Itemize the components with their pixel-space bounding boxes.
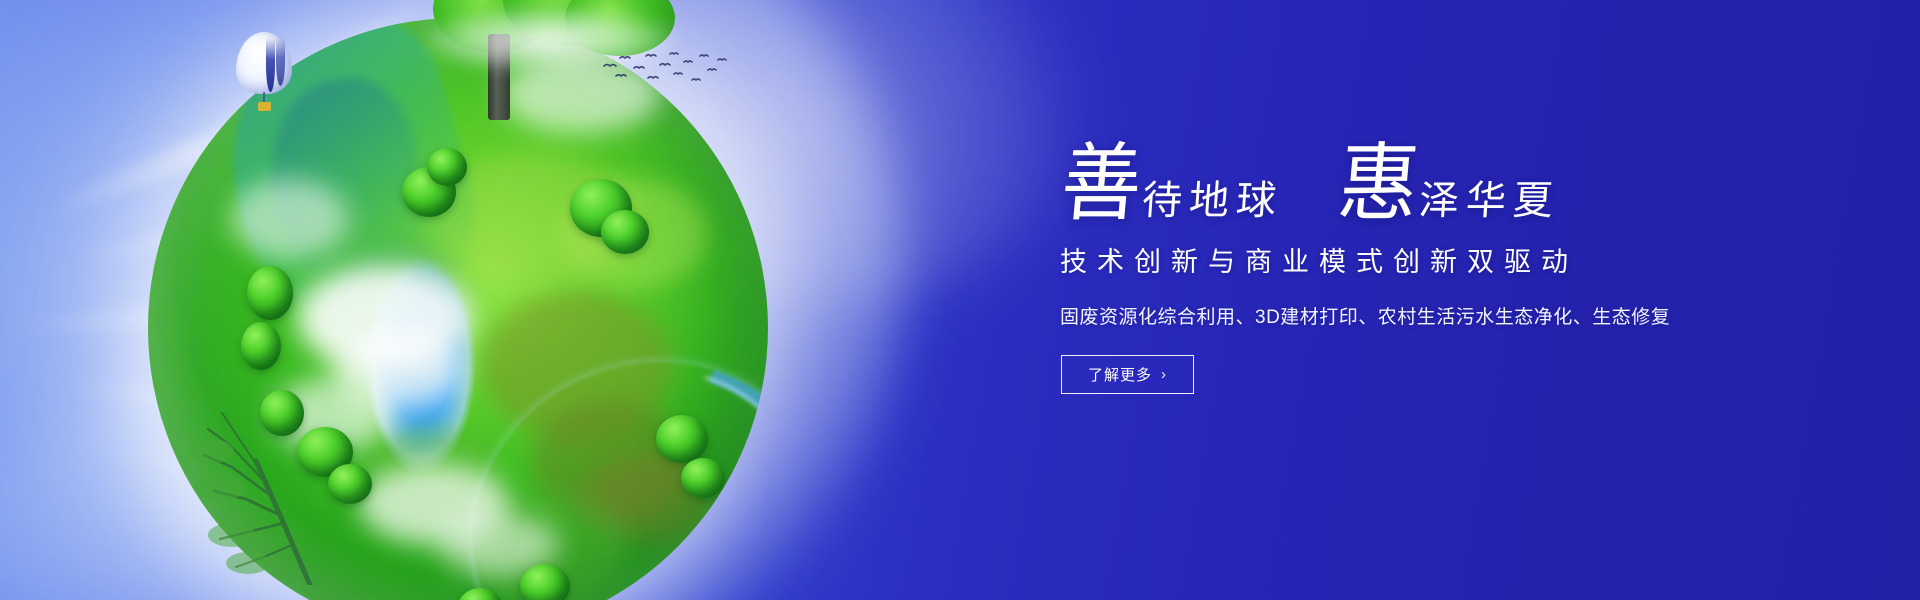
headline-lead-char-2: 惠: [1335, 141, 1422, 226]
balloon-basket: [258, 102, 271, 111]
learn-more-label: 了解更多: [1088, 364, 1152, 385]
bush-tree-icon: [427, 148, 467, 186]
bush-tree-icon: [247, 266, 293, 320]
bush-tree-icon: [656, 415, 708, 463]
chevron-right-icon: ›: [1161, 367, 1167, 382]
bird-flock-icon: [600, 48, 730, 90]
headline-rest-1: 待地球: [1141, 181, 1285, 221]
headline-rest-2: 泽华夏: [1418, 181, 1562, 221]
hero-description: 固废资源化综合利用、3D建材打印、农村生活污水生态净化、生态修复: [1060, 302, 1818, 329]
bare-tree-icon: [160, 395, 340, 585]
hero-subtitle: 技术创新与商业模式创新双驱动: [1060, 240, 1818, 279]
headline-phrase-2: 惠 泽华夏: [1335, 150, 1560, 226]
hero-copy: 善 待地球 惠 泽华夏 技术创新与商业模式创新双驱动 固废资源化综合利用、3D建…: [1058, 130, 1818, 394]
bush-tree-icon: [601, 210, 649, 254]
headline-lead-char-1: 善: [1058, 141, 1145, 226]
page-title: 善 待地球 惠 泽华夏: [1058, 130, 1818, 226]
balloon-stripe: [276, 38, 285, 86]
cloud-icon: [229, 179, 349, 259]
hot-air-balloon-icon: [236, 32, 292, 116]
learn-more-button[interactable]: 了解更多 ›: [1061, 355, 1194, 394]
balloon-stripe: [266, 38, 275, 92]
hero-banner: 善 待地球 惠 泽华夏 技术创新与商业模式创新双驱动 固废资源化综合利用、3D建…: [0, 0, 1920, 600]
bush-tree-icon: [241, 322, 281, 370]
headline-phrase-1: 善 待地球: [1058, 150, 1283, 226]
